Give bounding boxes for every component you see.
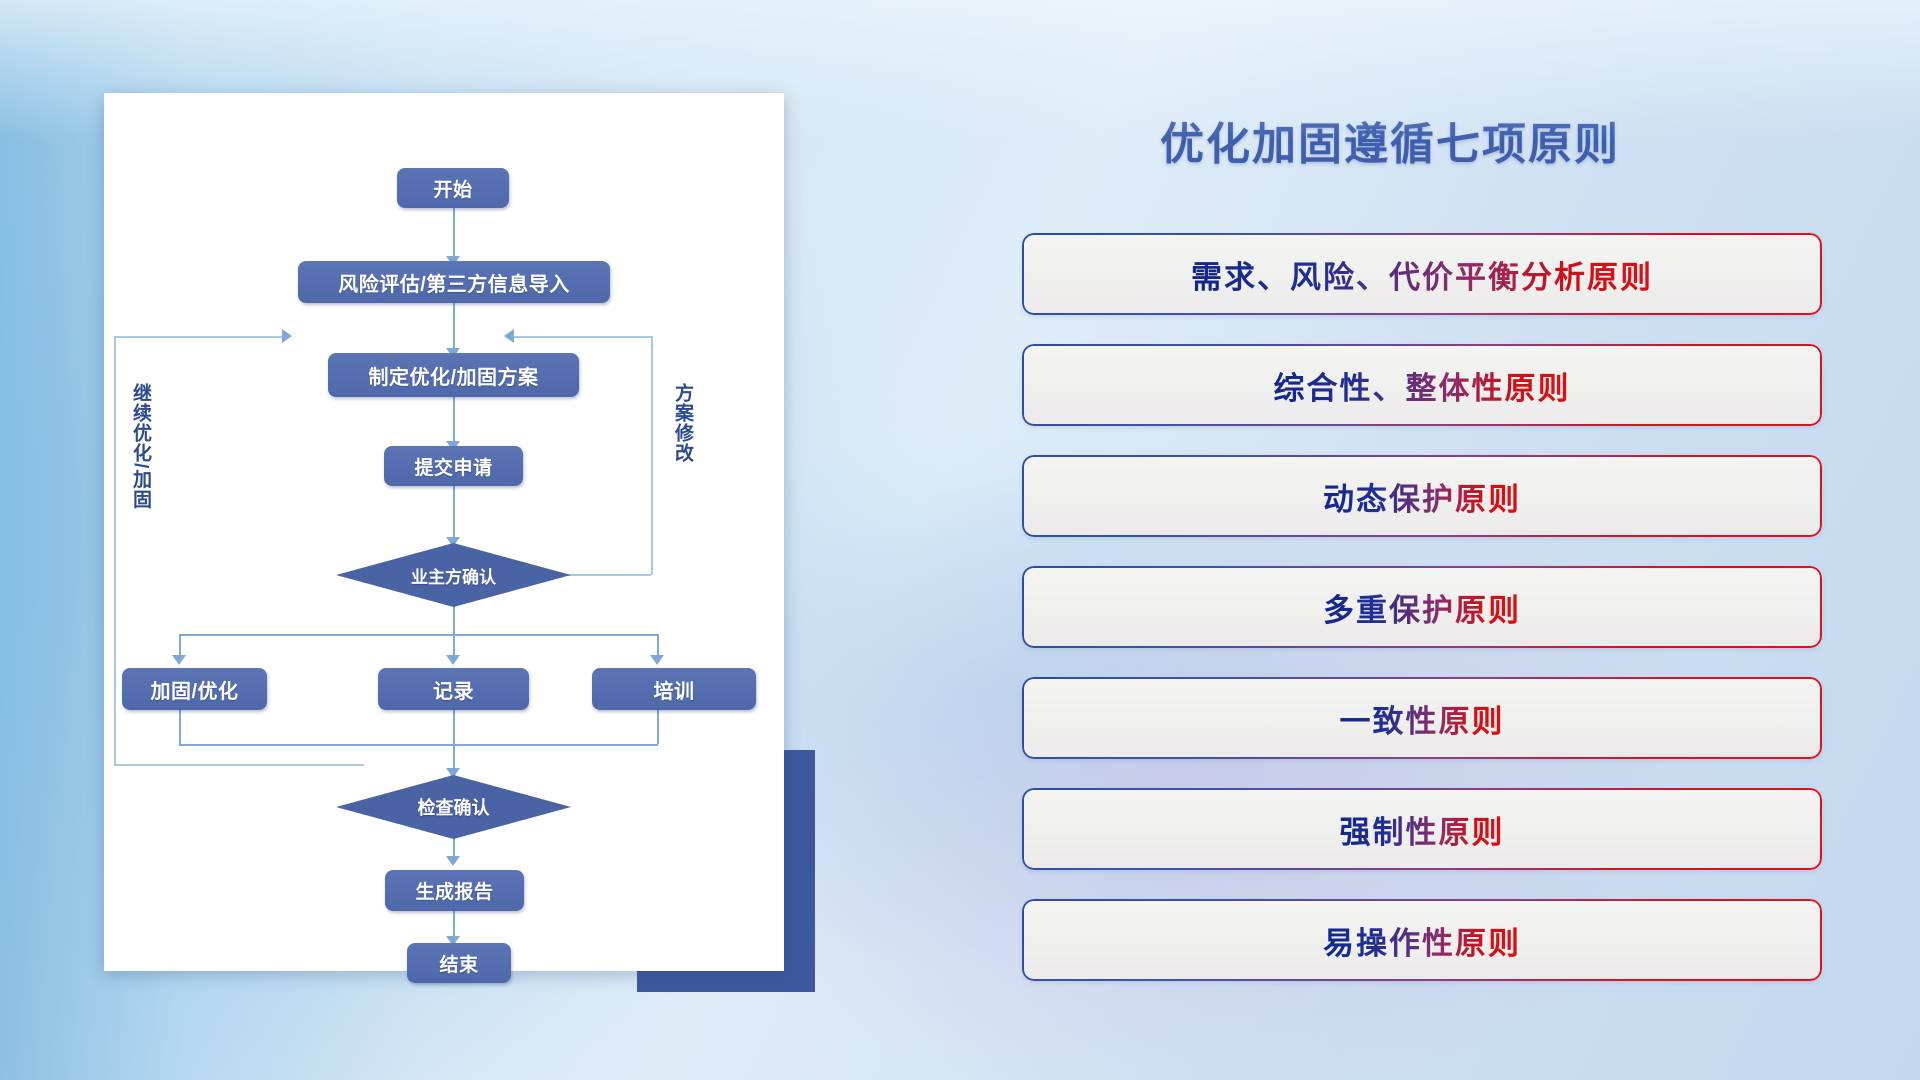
connector-start-risk: [453, 206, 455, 261]
flow-node-risk-assessment-label: 风险评估/第三方信息导入: [338, 268, 570, 297]
flow-node-record-label: 记录: [433, 675, 474, 704]
flow-node-owner-confirm-label: 业主方确认: [411, 563, 496, 588]
flow-node-reinforce-label: 加固/优化: [150, 675, 238, 704]
edge-label-plan-revision: 方案修改: [672, 383, 692, 463]
principle-item-1-label: 需求、风险、代价平衡分析原则: [1191, 252, 1653, 297]
connector-right-rail-vertical: [651, 336, 653, 575]
connector-left-rail-top: [114, 336, 286, 338]
principle-item-1[interactable]: 需求、风险、代价平衡分析原则: [1022, 233, 1822, 315]
edge-label-continue-optimize: 继续优化/加固: [130, 383, 150, 509]
principle-item-6[interactable]: 强制性原则: [1022, 788, 1822, 870]
slide-canvas: 开始 风险评估/第三方信息导入 制定优化/加固方案 提交申请 业主方确认 加固/…: [0, 0, 1920, 1080]
arrow-left-rail-to-plan: [282, 329, 292, 343]
flow-node-report[interactable]: 生成报告: [385, 870, 524, 911]
flowchart-canvas: 开始 风险评估/第三方信息导入 制定优化/加固方案 提交申请 业主方确认 加固/…: [104, 93, 784, 971]
arrow-to-training: [650, 655, 664, 665]
flow-node-record[interactable]: 记录: [378, 668, 529, 710]
flow-node-risk-assessment[interactable]: 风险评估/第三方信息导入: [298, 261, 610, 303]
flow-node-training[interactable]: 培训: [592, 668, 756, 710]
connector-left-rail-bottom: [114, 764, 364, 766]
connector-fanout-bus: [179, 634, 658, 636]
arrow-right-rail-to-plan: [504, 329, 514, 343]
flowchart-card: 开始 风险评估/第三方信息导入 制定优化/加固方案 提交申请 业主方确认 加固/…: [104, 93, 784, 971]
flow-node-training-label: 培训: [654, 675, 695, 704]
connector-plan-submit: [453, 396, 455, 446]
flow-node-start-label: 开始: [433, 175, 472, 202]
arrow-to-record: [446, 655, 460, 665]
principle-item-5[interactable]: 一致性原则: [1022, 677, 1822, 759]
principle-item-4-label: 多重保护原则: [1323, 585, 1521, 630]
connector-risk-plan: [453, 301, 455, 353]
connector-fanin-bus: [179, 744, 658, 746]
arrow-check-report: [446, 856, 460, 866]
flow-node-plan-label: 制定优化/加固方案: [368, 361, 538, 390]
flow-node-owner-confirm[interactable]: 业主方确认: [336, 543, 571, 607]
flow-node-submit[interactable]: 提交申请: [384, 446, 523, 486]
connector-right-rail-top: [514, 336, 651, 338]
connector-submit-owner: [453, 485, 455, 543]
principle-item-3[interactable]: 动态保护原则: [1022, 455, 1822, 537]
connector-left-rail-vertical: [114, 336, 116, 765]
flow-node-report-label: 生成报告: [415, 877, 493, 904]
principle-item-5-label: 一致性原则: [1340, 696, 1505, 741]
principle-item-7-label: 易操作性原则: [1323, 918, 1521, 963]
arrow-to-reinforce: [172, 655, 186, 665]
flow-node-plan[interactable]: 制定优化/加固方案: [328, 353, 579, 397]
flow-node-end[interactable]: 结束: [407, 943, 511, 983]
principle-item-2-label: 综合性、整体性原则: [1274, 363, 1571, 408]
connector-record-to-check: [453, 709, 455, 775]
connector-training-down: [657, 709, 659, 744]
flow-node-check-confirm-label: 检查确认: [418, 794, 490, 820]
connector-reinforce-down: [179, 709, 181, 744]
connector-owner-down: [453, 606, 455, 634]
flow-node-end-label: 结束: [439, 950, 478, 977]
principle-item-3-label: 动态保护原则: [1323, 474, 1521, 519]
flow-node-start[interactable]: 开始: [397, 168, 509, 208]
principle-item-4[interactable]: 多重保护原则: [1022, 566, 1822, 648]
principle-item-2[interactable]: 综合性、整体性原则: [1022, 344, 1822, 426]
flow-node-reinforce[interactable]: 加固/优化: [122, 668, 267, 710]
principles-list: 需求、风险、代价平衡分析原则 综合性、整体性原则 动态保护原则 多重保护原则 一…: [1022, 233, 1822, 1010]
principle-item-6-label: 强制性原则: [1340, 807, 1505, 852]
flow-node-check-confirm[interactable]: 检查确认: [336, 775, 571, 839]
flow-node-submit-label: 提交申请: [414, 453, 492, 480]
principle-item-7[interactable]: 易操作性原则: [1022, 899, 1822, 981]
principles-title: 优化加固遵循七项原则: [1020, 108, 1760, 172]
